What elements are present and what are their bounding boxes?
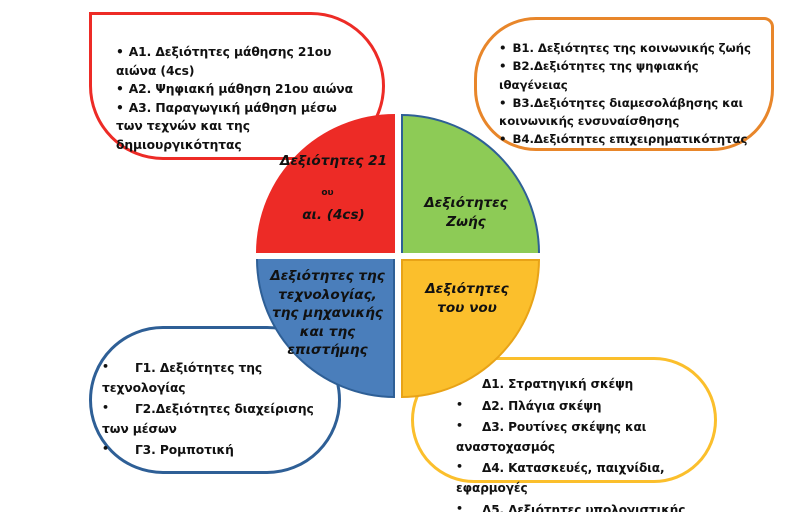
list-item-text: Δ2. Πλάγια σκέψη [482, 399, 602, 413]
list-item-text: Γ1. Δεξιότητες της τεχνολογίας [102, 361, 262, 395]
list-item: •Δ3. Ρουτίνες σκέψης και αναστοχασμός [456, 416, 704, 457]
list-item: •Α1. Δεξιότητες μάθησης 21ου αιώνα (4cs) [116, 43, 364, 80]
bullet-icon: • [116, 80, 124, 99]
quadrant-label: Δεξιότητες 21ουαι. (4cs) [259, 152, 394, 253]
bullet-icon: • [456, 457, 463, 477]
list-item: •Α2. Ψηφιακή μάθηση 21ου αιώνα [116, 80, 364, 99]
quadrant-label-line2: αι. (4cs) [265, 206, 400, 239]
list-item: •Δ4. Κατασκευές, παιχνίδια, εφαρμογές [456, 457, 704, 498]
quadrant-label: Δεξιότητες του νου [403, 261, 527, 317]
bullet-icon: • [116, 43, 124, 62]
list-item-text: Γ3. Ρομποτική [135, 443, 234, 457]
list-item-text: Δ4. Κατασκευές, παιχνίδια, εφαρμογές [456, 461, 665, 495]
list-item: •Γ3. Ρομποτική [102, 439, 326, 460]
list-item-text: Δ3. Ρουτίνες σκέψης και αναστοχασμός [456, 420, 646, 454]
list-item: •Δ5. Δεξιότητες υπολογιστικής σκέψης [456, 499, 704, 512]
bullet-icon: • [499, 39, 506, 57]
bullet-icon: • [102, 357, 109, 377]
list-item: •Β2.Δεξιότητες της ψηφιακής ιθαγένειας [499, 57, 759, 94]
quadrant-label: Δεξιότητες της τεχνολογίας, της μηχανική… [258, 259, 393, 360]
list-item-text: Β1. Δεξιότητες της κοινωνικής ζωής [512, 41, 750, 55]
list-item-text: Β4.Δεξιότητες επιχειρηματικότητας [512, 132, 747, 146]
bullet-icon: • [102, 439, 109, 459]
quadrant-label-line1: Δεξιότητες 21 [265, 152, 400, 185]
list-item-text: Α2. Ψηφιακή μάθηση 21ου αιώνα [129, 82, 353, 96]
skills-wheel: Δεξιότητες 21ουαι. (4cs) Δεξιότητες Ζωής… [256, 114, 540, 398]
list-item-text: Α1. Δεξιότητες μάθησης 21ου αιώνα (4cs) [116, 45, 331, 78]
list-item-text: Β2.Δεξιότητες της ψηφιακής ιθαγένειας [499, 59, 699, 91]
quadrant-label-superscript: ου [321, 188, 333, 198]
bullet-icon: • [456, 416, 463, 436]
list-item: •Γ2.Δεξιότητες διαχείρισης των μέσων [102, 398, 326, 439]
wheel-quadrant-21st-century-skills[interactable]: Δεξιότητες 21ουαι. (4cs) [256, 114, 395, 253]
bullet-icon: • [499, 57, 506, 75]
bullet-icon: • [102, 398, 109, 418]
list-item-text: Γ2.Δεξιότητες διαχείρισης των μέσων [102, 402, 314, 436]
wheel-quadrant-technology-engineering-science-skills[interactable]: Δεξιότητες της τεχνολογίας, της μηχανική… [256, 259, 395, 398]
list-item-text: Δ5. Δεξιότητες υπολογιστικής σκέψης [456, 503, 685, 512]
wheel-quadrant-mind-skills[interactable]: Δεξιότητες του νου [401, 259, 540, 398]
diagram-canvas: •Α1. Δεξιότητες μάθησης 21ου αιώνα (4cs)… [0, 0, 800, 512]
bullet-icon: • [456, 499, 463, 512]
bullet-icon: • [499, 94, 506, 112]
bullet-icon: • [116, 99, 124, 118]
quadrant-label: Δεξιότητες Ζωής [403, 194, 527, 253]
list-item: •Β1. Δεξιότητες της κοινωνικής ζωής [499, 39, 759, 57]
wheel-quadrant-life-skills[interactable]: Δεξιότητες Ζωής [401, 114, 540, 253]
